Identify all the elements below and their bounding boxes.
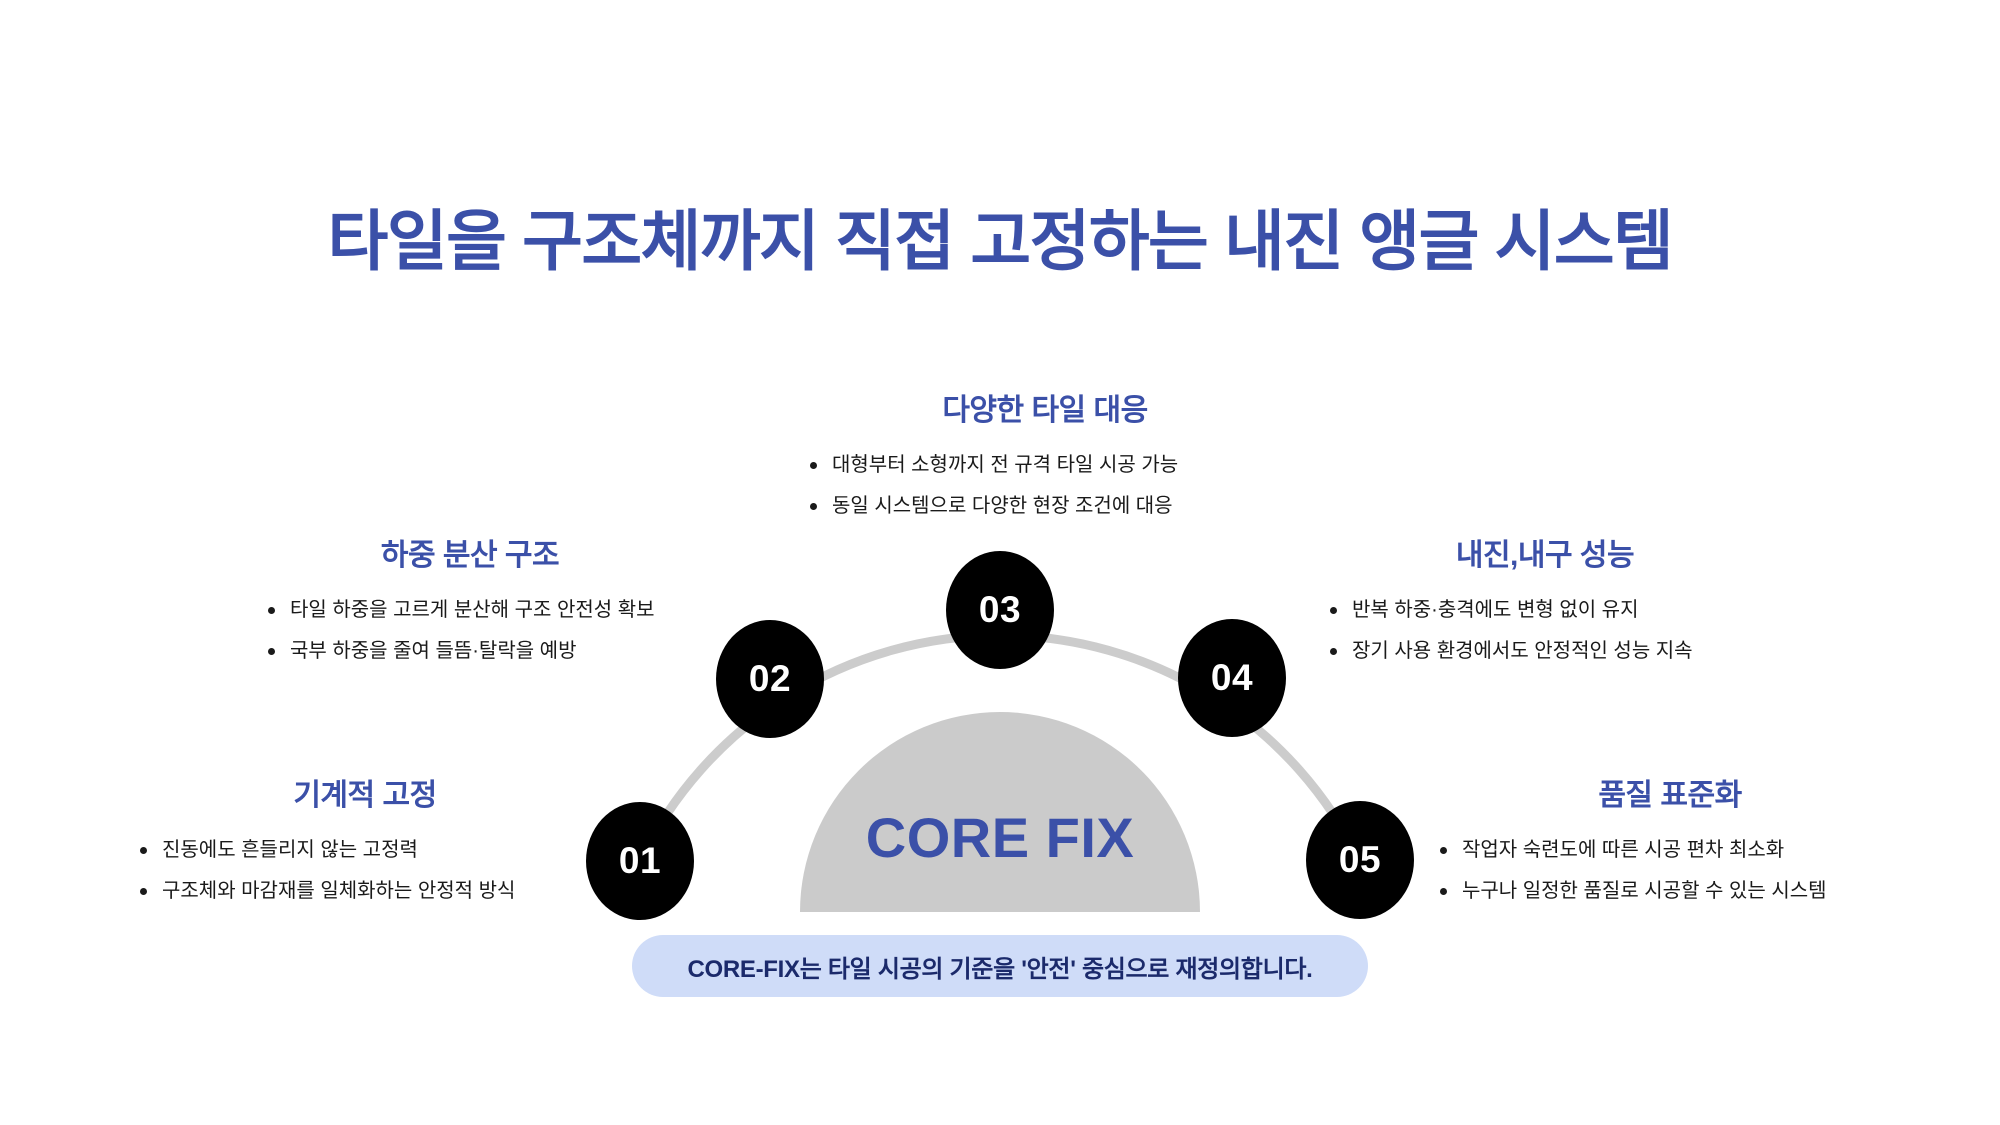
node-02[interactable]: 02	[716, 620, 824, 738]
block-tile-variety-list: 대형부터 소형까지 전 규격 타일 시공 가능 동일 시스템으로 다양한 현장 …	[810, 451, 1178, 533]
block-mechanical-fixing: 기계적 고정 진동에도 흔들리지 않는 고정력 구조체와 마감재를 일체화하는 …	[140, 770, 590, 918]
list-item: 진동에도 흔들리지 않는 고정력	[140, 836, 515, 865]
block-quality-standardization-list: 작업자 숙련도에 따른 시공 편차 최소화 누구나 일정한 품질로 시공할 수 …	[1440, 836, 1827, 918]
block-tile-variety: 다양한 타일 대응 대형부터 소형까지 전 규격 타일 시공 가능 동일 시스템…	[810, 385, 1280, 533]
block-mechanical-fixing-heading: 기계적 고정	[140, 770, 590, 814]
list-item: 반복 하중·충격에도 변형 없이 유지	[1330, 596, 1693, 625]
list-item: 작업자 숙련도에 따른 시공 편차 최소화	[1440, 836, 1827, 865]
core-fix-diagram: CORE FIX 01 02 03 04 05 다양한 타일 대응 대형부터 소…	[0, 0, 2000, 1125]
list-item: 동일 시스템으로 다양한 현장 조건에 대응	[810, 492, 1178, 521]
block-quality-standardization-heading: 품질 표준화	[1440, 770, 1900, 814]
list-item: 타일 하중을 고르게 분산해 구조 안전성 확보	[268, 596, 655, 625]
node-04[interactable]: 04	[1178, 619, 1286, 737]
list-item: 누구나 일정한 품질로 시공할 수 있는 시스템	[1440, 877, 1827, 906]
block-seismic-durability: 내진,내구 성능 반복 하중·충격에도 변형 없이 유지 장기 사용 환경에서도…	[1320, 530, 1770, 678]
block-tile-variety-heading: 다양한 타일 대응	[810, 385, 1280, 429]
block-load-distribution-list: 타일 하중을 고르게 분산해 구조 안전성 확보 국부 하중을 줄여 들뜸·탈락…	[268, 596, 655, 678]
block-mechanical-fixing-list: 진동에도 흔들리지 않는 고정력 구조체와 마감재를 일체화하는 안정적 방식	[140, 836, 515, 918]
node-05[interactable]: 05	[1306, 801, 1414, 919]
list-item: 구조체와 마감재를 일체화하는 안정적 방식	[140, 877, 515, 906]
block-load-distribution-heading: 하중 분산 구조	[250, 530, 690, 574]
node-01[interactable]: 01	[586, 802, 694, 920]
list-item: 국부 하중을 줄여 들뜸·탈락을 예방	[268, 637, 655, 666]
list-item: 대형부터 소형까지 전 규격 타일 시공 가능	[810, 451, 1178, 480]
caption-banner: CORE-FIX는 타일 시공의 기준을 '안전' 중심으로 재정의합니다.	[632, 935, 1368, 997]
node-03[interactable]: 03	[946, 551, 1054, 669]
block-load-distribution: 하중 분산 구조 타일 하중을 고르게 분산해 구조 안전성 확보 국부 하중을…	[250, 530, 690, 678]
block-seismic-durability-list: 반복 하중·충격에도 변형 없이 유지 장기 사용 환경에서도 안정적인 성능 …	[1330, 596, 1693, 678]
caption-text: CORE-FIX는 타일 시공의 기준을 '안전' 중심으로 재정의합니다.	[687, 949, 1312, 984]
core-fix-label: CORE FIX	[800, 805, 1200, 870]
list-item: 장기 사용 환경에서도 안정적인 성능 지속	[1330, 637, 1693, 666]
infographic-slide: 타일을 구조체까지 직접 고정하는 내진 앵글 시스템 CORE FIX 01 …	[0, 0, 2000, 1125]
block-seismic-durability-heading: 내진,내구 성능	[1320, 530, 1770, 574]
block-quality-standardization: 품질 표준화 작업자 숙련도에 따른 시공 편차 최소화 누구나 일정한 품질로…	[1440, 770, 1900, 918]
